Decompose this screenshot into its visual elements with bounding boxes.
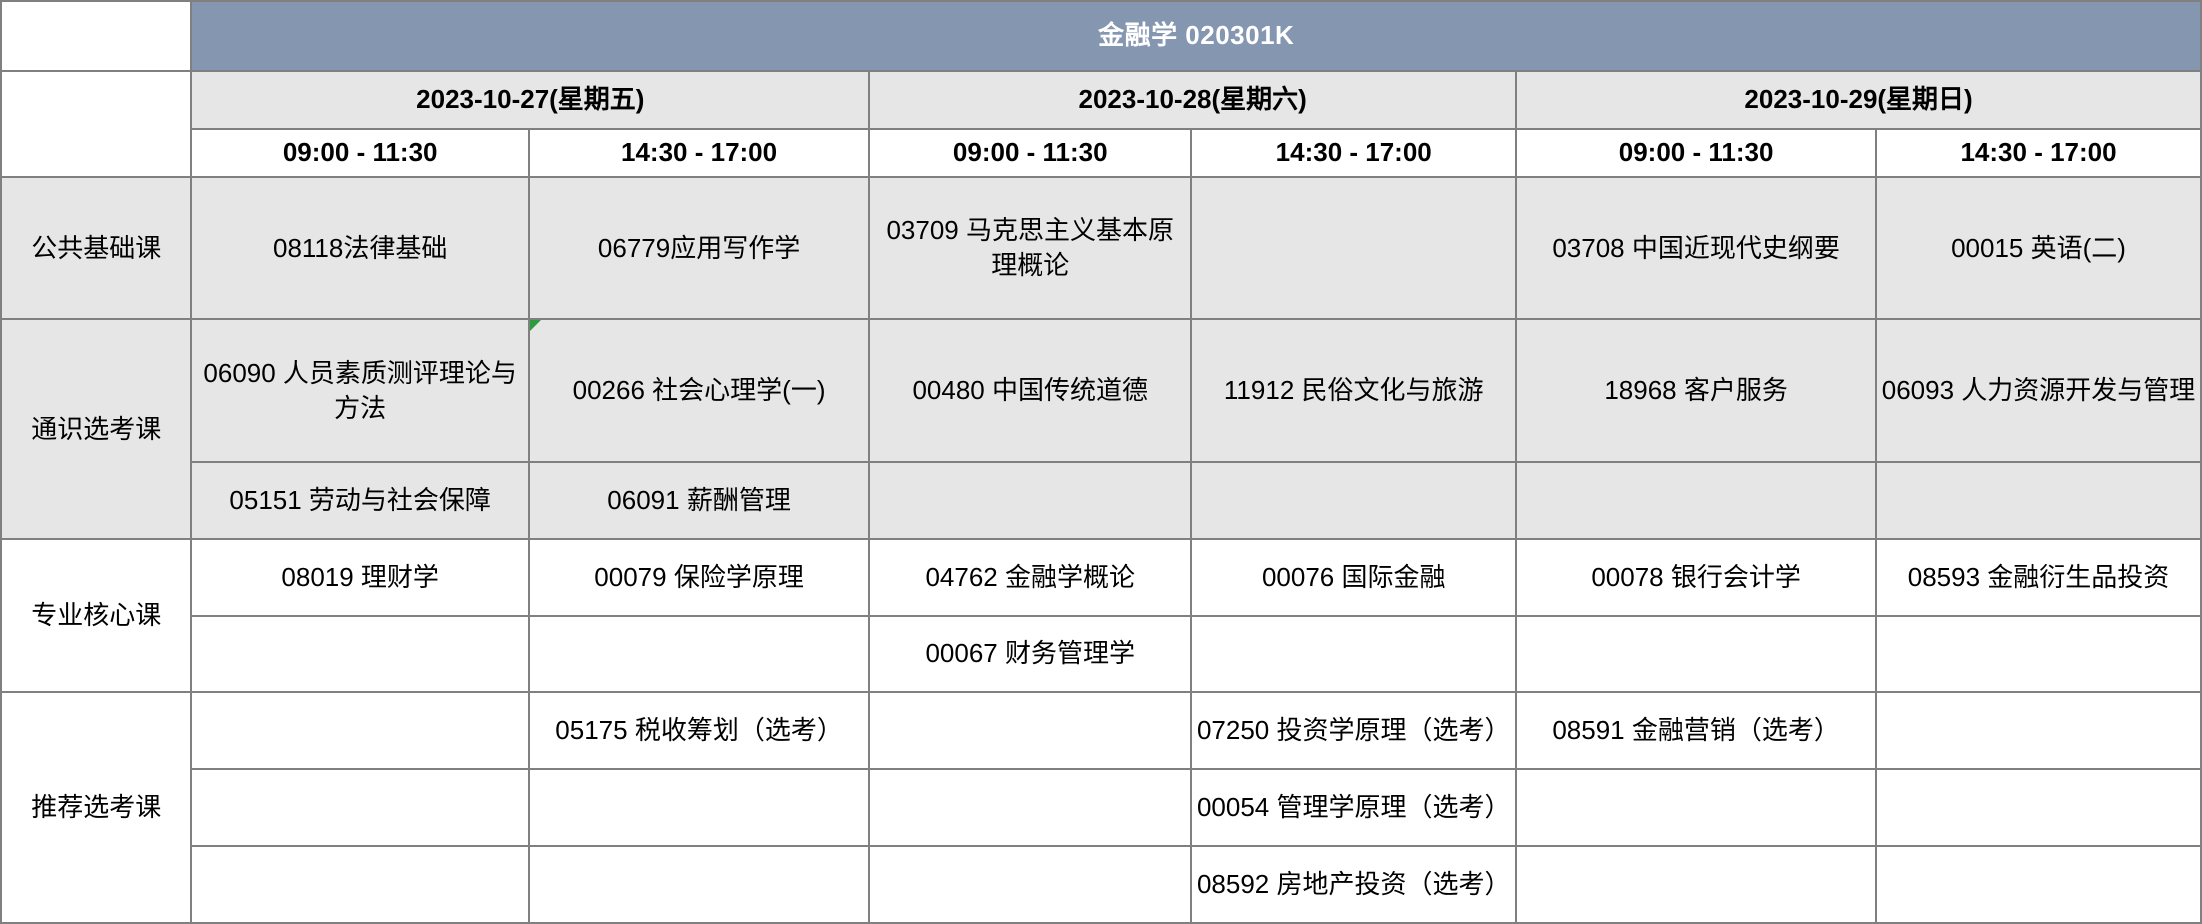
- empty-cell: [869, 769, 1191, 846]
- course-cell[interactable]: 00078 银行会计学: [1516, 539, 1876, 616]
- course-cell[interactable]: 11912 民俗文化与旅游: [1191, 319, 1516, 461]
- header-corner-cell: [1, 71, 191, 177]
- category-label-3: 专业核心课: [1, 539, 191, 693]
- empty-cell: [191, 616, 528, 693]
- exam-schedule-sheet: 金融学 020301K2023-10-27(星期五)2023-10-28(星期六…: [0, 0, 2202, 924]
- empty-cell: [529, 846, 869, 923]
- empty-cell: [1191, 177, 1516, 319]
- course-cell[interactable]: 08592 房地产投资（选考）: [1191, 846, 1516, 923]
- empty-cell: [1876, 769, 2201, 846]
- table-row: 公共基础课08118法律基础06779应用写作学03709 马克思主义基本原理概…: [1, 177, 2201, 319]
- time-header-5: 09:00 - 11:30: [1516, 129, 1876, 177]
- empty-cell: [191, 769, 528, 846]
- time-header-4: 14:30 - 17:00: [1191, 129, 1516, 177]
- empty-cell: [1876, 692, 2201, 769]
- empty-cell: [1876, 846, 2201, 923]
- empty-cell: [191, 692, 528, 769]
- category-label-1: 公共基础课: [1, 177, 191, 319]
- time-header-3: 09:00 - 11:30: [869, 129, 1191, 177]
- date-header-row: 2023-10-27(星期五)2023-10-28(星期六)2023-10-29…: [1, 71, 2201, 129]
- course-cell[interactable]: 00079 保险学原理: [529, 539, 869, 616]
- empty-cell: [1516, 462, 1876, 539]
- empty-cell: [1516, 846, 1876, 923]
- course-cell[interactable]: 03709 马克思主义基本原理概论: [869, 177, 1191, 319]
- table-row: 通识选考课06090 人员素质测评理论与方法00266 社会心理学(一)0048…: [1, 319, 2201, 461]
- course-cell[interactable]: 06090 人员素质测评理论与方法: [191, 319, 528, 461]
- course-cell[interactable]: 08019 理财学: [191, 539, 528, 616]
- table-row: 00067 财务管理学: [1, 616, 2201, 693]
- course-cell[interactable]: 05151 劳动与社会保障: [191, 462, 528, 539]
- empty-cell: [191, 846, 528, 923]
- empty-cell: [1876, 616, 2201, 693]
- date-header-3: 2023-10-29(星期日): [1516, 71, 2201, 129]
- course-cell[interactable]: 00480 中国传统道德: [869, 319, 1191, 461]
- table-row: 00054 管理学原理（选考）: [1, 769, 2201, 846]
- time-header-2: 14:30 - 17:00: [529, 129, 869, 177]
- course-cell[interactable]: 00266 社会心理学(一): [529, 319, 869, 461]
- empty-cell: [1191, 462, 1516, 539]
- course-cell[interactable]: 00076 国际金融: [1191, 539, 1516, 616]
- course-cell[interactable]: 06093 人力资源开发与管理: [1876, 319, 2201, 461]
- time-header-row: 09:00 - 11:3014:30 - 17:0009:00 - 11:301…: [1, 129, 2201, 177]
- course-cell[interactable]: 03708 中国近现代史纲要: [1516, 177, 1876, 319]
- empty-cell: [1516, 616, 1876, 693]
- exam-schedule-table: 金融学 020301K2023-10-27(星期五)2023-10-28(星期六…: [0, 0, 2202, 924]
- empty-cell: [1191, 616, 1516, 693]
- course-cell[interactable]: 18968 客户服务: [1516, 319, 1876, 461]
- empty-cell: [1516, 769, 1876, 846]
- time-header-6: 14:30 - 17:00: [1876, 129, 2201, 177]
- course-cell[interactable]: 06091 薪酬管理: [529, 462, 869, 539]
- course-cell[interactable]: 00067 财务管理学: [869, 616, 1191, 693]
- course-cell[interactable]: 04762 金融学概论: [869, 539, 1191, 616]
- title-row: 金融学 020301K: [1, 1, 2201, 71]
- empty-cell: [1876, 462, 2201, 539]
- empty-cell: [529, 769, 869, 846]
- page-title: 金融学 020301K: [191, 1, 2201, 71]
- course-cell[interactable]: 08593 金融衍生品投资: [1876, 539, 2201, 616]
- table-row: 08592 房地产投资（选考）: [1, 846, 2201, 923]
- date-header-2: 2023-10-28(星期六): [869, 71, 1516, 129]
- course-cell[interactable]: 05175 税收筹划（选考）: [529, 692, 869, 769]
- table-row: 05151 劳动与社会保障06091 薪酬管理: [1, 462, 2201, 539]
- empty-cell: [529, 616, 869, 693]
- corner-blank-cell: [1, 1, 191, 71]
- course-cell[interactable]: 06779应用写作学: [529, 177, 869, 319]
- course-cell[interactable]: 08591 金融营销（选考）: [1516, 692, 1876, 769]
- empty-cell: [869, 846, 1191, 923]
- empty-cell: [869, 462, 1191, 539]
- course-cell[interactable]: 07250 投资学原理（选考）: [1191, 692, 1516, 769]
- date-header-1: 2023-10-27(星期五): [191, 71, 869, 129]
- course-cell[interactable]: 08118法律基础: [191, 177, 528, 319]
- empty-cell: [869, 692, 1191, 769]
- category-label-2: 通识选考课: [1, 319, 191, 538]
- course-cell[interactable]: 00015 英语(二): [1876, 177, 2201, 319]
- time-header-1: 09:00 - 11:30: [191, 129, 528, 177]
- course-cell[interactable]: 00054 管理学原理（选考）: [1191, 769, 1516, 846]
- category-label-4: 推荐选考课: [1, 692, 191, 923]
- table-row: 推荐选考课05175 税收筹划（选考）07250 投资学原理（选考）08591 …: [1, 692, 2201, 769]
- table-row: 专业核心课08019 理财学00079 保险学原理04762 金融学概论0007…: [1, 539, 2201, 616]
